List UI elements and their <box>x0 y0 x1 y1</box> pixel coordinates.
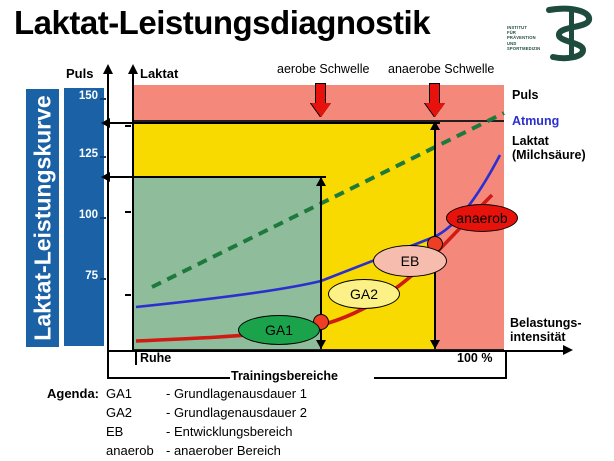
aerobic-threshold-arrow-icon <box>315 83 326 103</box>
pulse-axis-title: Puls <box>66 66 93 81</box>
arrow-head-down-icon <box>430 340 440 349</box>
legend-label-laktat: Laktat <box>512 134 549 148</box>
agenda-abbr-anaerob: anaerob <box>106 443 154 458</box>
arrow-head-down-icon <box>316 340 326 349</box>
x-label-100pct: 100 % <box>457 351 492 365</box>
agenda-desc-ga1: - Grundlagenausdauer 1 <box>166 386 307 401</box>
aesculap-snake-icon <box>487 2 612 64</box>
legend-label-milchsaeure: (Milchsäure) <box>512 148 586 162</box>
logo-line-3: PRÄVENTION <box>507 35 540 40</box>
legend-label-puls: Puls <box>512 88 538 102</box>
lactate-tickmark-8 <box>125 125 131 127</box>
bracket-label: Trainingsbereiche <box>231 369 338 383</box>
bracket-tick-left <box>107 350 109 378</box>
arrow-tip <box>311 103 331 117</box>
arrow-shaft <box>315 83 326 103</box>
agenda-desc-anaerob: - anaerober Bereich <box>166 443 281 458</box>
zone-label-anaerob: anaerob <box>456 210 507 226</box>
aerobic-threshold-label: aerobe Schwelle <box>277 62 369 76</box>
x-tick-ruhe <box>135 352 137 365</box>
anaerobic-range-arrow <box>434 129 436 341</box>
pulse-link-arrow-150 <box>110 122 440 124</box>
anaerobic-threshold-arrow-icon <box>429 83 440 103</box>
pulse-tickmark-150 <box>100 98 106 100</box>
zone-ellipse-ga2[interactable]: GA2 <box>328 279 400 309</box>
agenda-abbr-ga2: GA2 <box>106 405 132 420</box>
page-title: Laktat-Leistungsdiagnostik <box>14 4 430 42</box>
x-axis-title-line2: intensität <box>510 330 566 344</box>
lactate-tickmark-5 <box>125 211 131 213</box>
pulse-link-arrow-125 <box>110 176 326 178</box>
x-axis-line-extension <box>506 350 566 352</box>
pulse-tick-100: 100 <box>68 209 98 221</box>
bracket-tick-right <box>505 350 507 378</box>
agenda-desc-ga2: - Grundlagenausdauer 2 <box>166 405 307 420</box>
pulse-tick-150: 150 <box>68 90 98 102</box>
lactate-axis-title: Laktat <box>140 66 178 81</box>
agenda-desc-eb: - Entwicklungsbereich <box>166 424 292 439</box>
pulse-tick-125: 125 <box>68 148 98 160</box>
pulse-tick-75: 75 <box>68 270 98 282</box>
pulse-tickmark-125 <box>100 156 106 158</box>
arrow-head-left-icon <box>101 118 110 128</box>
logo-line-5: SPORTMEDIZIN <box>507 46 540 51</box>
zone-label-ga1: GA1 <box>265 322 293 338</box>
zone-label-ga2: GA2 <box>350 286 378 302</box>
logo-text: INSTITUT FÜR PRÄVENTION UND SPORTMEDIZIN <box>507 25 540 51</box>
side-banner: Laktat-Leistungskurve <box>25 88 60 348</box>
x-axis-title-line1: Belastungs- <box>510 316 582 330</box>
institut-logo: INSTITUT FÜR PRÄVENTION UND SPORTMEDIZIN <box>487 2 612 64</box>
arrow-head-up-icon <box>316 177 326 186</box>
zone-label-eb: EB <box>401 253 420 269</box>
legend-label-atmung: Atmung <box>512 114 559 128</box>
zone-ellipse-eb[interactable]: EB <box>373 245 447 277</box>
arrow-head-left-icon <box>101 172 110 182</box>
anaerobic-threshold-label: anaerobe Schwelle <box>388 62 494 76</box>
agenda-abbr-ga1: GA1 <box>106 386 132 401</box>
arrow-shaft <box>429 83 440 103</box>
arrow-tip <box>425 103 445 117</box>
chart-plot-area: GA1 GA2 EB anaerob <box>134 85 504 350</box>
x-axis-arrow-icon <box>563 345 573 355</box>
lactate-tickmark-2 <box>125 294 131 296</box>
pulse-axis-arrow-icon <box>103 64 113 74</box>
pulse-tickmark-75 <box>100 278 106 280</box>
zone-ellipse-anaerob[interactable]: anaerob <box>446 204 518 232</box>
curve-puls <box>152 113 504 287</box>
pulse-tickmark-100 <box>100 217 106 219</box>
agenda-title: Agenda: <box>47 386 99 401</box>
side-banner-label: Laktat-Leistungskurve <box>29 95 56 340</box>
x-label-ruhe: Ruhe <box>140 351 171 365</box>
bracket-line-right <box>374 377 507 379</box>
agenda-abbr-eb: EB <box>106 424 123 439</box>
bracket-line-left <box>107 377 230 379</box>
lactate-axis-arrow-icon <box>128 64 138 74</box>
zone-ellipse-ga1[interactable]: GA1 <box>238 315 320 345</box>
pulse-axis-line <box>107 72 109 362</box>
